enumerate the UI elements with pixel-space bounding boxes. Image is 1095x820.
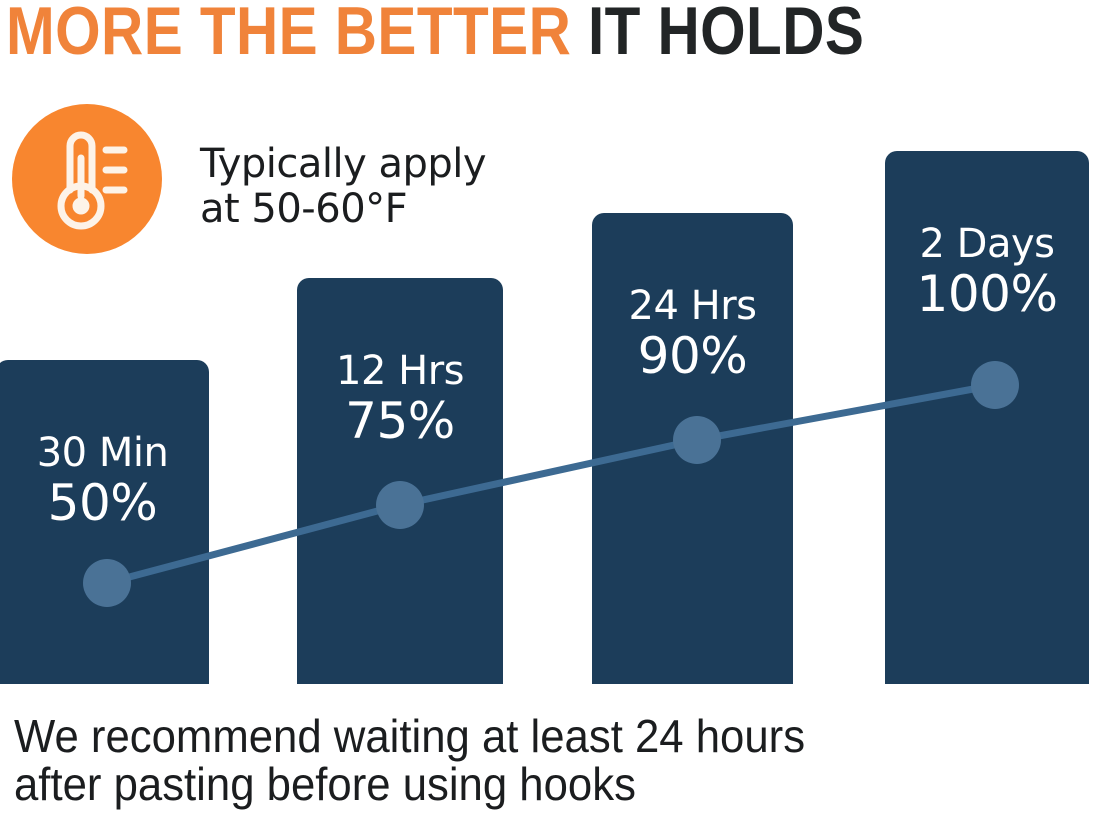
data-point-marker [673, 416, 721, 464]
infographic-root: MORE THE BETTER IT HOLDS Typically apply… [0, 0, 1095, 820]
trend-line [107, 385, 995, 583]
data-point-marker [83, 559, 131, 607]
caption-line1: We recommend waiting at least 24 hours [14, 710, 805, 762]
footer-caption: We recommend waiting at least 24 hours a… [14, 712, 1035, 808]
caption-line2: after pasting before using hooks [14, 760, 1035, 808]
data-point-marker [376, 481, 424, 529]
bar-chart: 30 Min 50% 12 Hrs 75% 24 Hrs 90% 2 Days … [0, 0, 1095, 820]
trend-line-overlay [0, 0, 1095, 820]
data-point-marker [971, 361, 1019, 409]
